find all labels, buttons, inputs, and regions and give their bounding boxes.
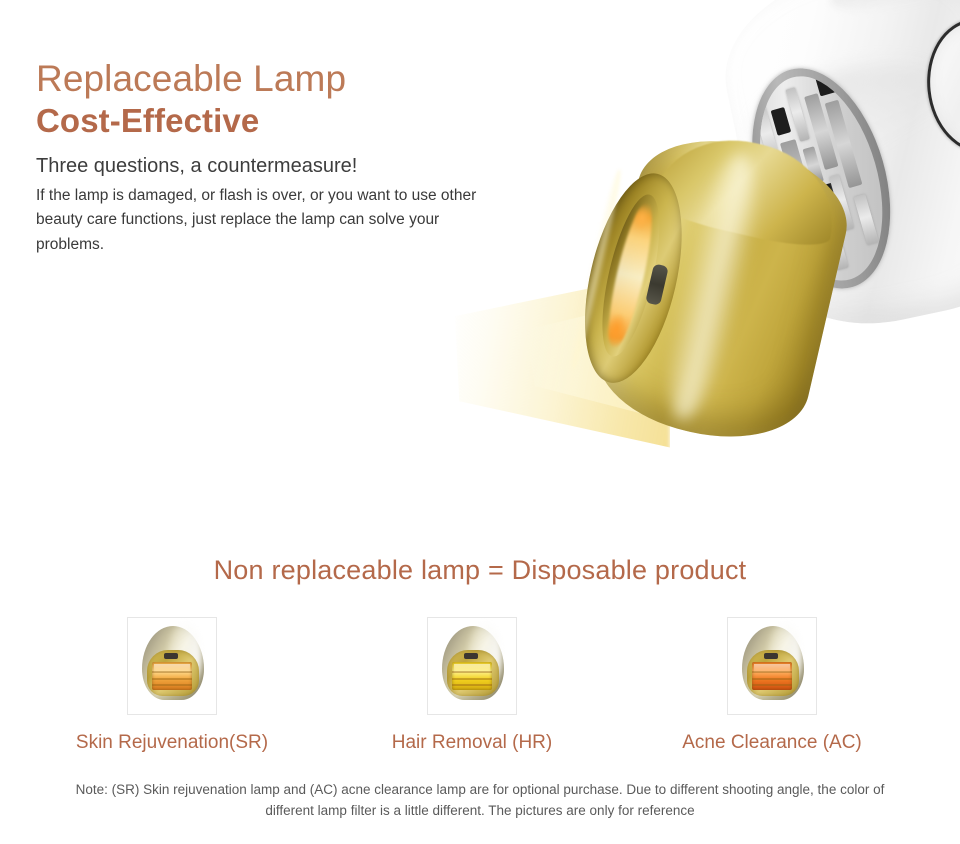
lamp-filter-window — [452, 662, 492, 690]
lamp-thumbnail[interactable] — [427, 617, 517, 715]
product-feature-banner: Replaceable Lamp Cost-Effective Three qu… — [0, 0, 960, 844]
lamp-variant-row: Skin Rejuvenation(SR) Hair Removal (HR) — [0, 617, 960, 722]
body-paragraph: If the lamp is damaged, or flash is over… — [36, 184, 496, 257]
lamp-caption: Hair Removal (HR) — [322, 732, 622, 754]
cartridge-glow-hotspot-bottom — [603, 311, 630, 349]
lamp-thumbnail[interactable] — [727, 617, 817, 715]
gold-lamp-cartridge-icon — [557, 113, 874, 465]
lamp-variant-sr: Skin Rejuvenation(SR) — [22, 617, 322, 754]
page-subtitle: Cost-Effective — [36, 102, 556, 140]
lamp-caption: Acne Clearance (AC) — [622, 732, 922, 754]
lamp-variant-ac: Acne Clearance (AC) — [622, 617, 922, 754]
lead-text: Three questions, a countermeasure! — [36, 154, 556, 178]
page-title: Replaceable Lamp — [36, 58, 556, 99]
lamp-notch — [764, 653, 778, 659]
lamp-filter-window — [152, 662, 192, 690]
lamp-notch — [464, 653, 478, 659]
footnote: Note: (SR) Skin rejuvenation lamp and (A… — [50, 779, 910, 822]
lamp-caption: Skin Rejuvenation(SR) — [22, 732, 322, 754]
lamp-thumbnail[interactable] — [127, 617, 217, 715]
lamp-variant-hr: Hair Removal (HR) — [322, 617, 622, 754]
lamp-filter-window — [752, 662, 792, 690]
section-heading: Non replaceable lamp = Disposable produc… — [0, 555, 960, 586]
headline-block: Replaceable Lamp Cost-Effective Three qu… — [36, 58, 556, 257]
lamp-notch — [164, 653, 178, 659]
